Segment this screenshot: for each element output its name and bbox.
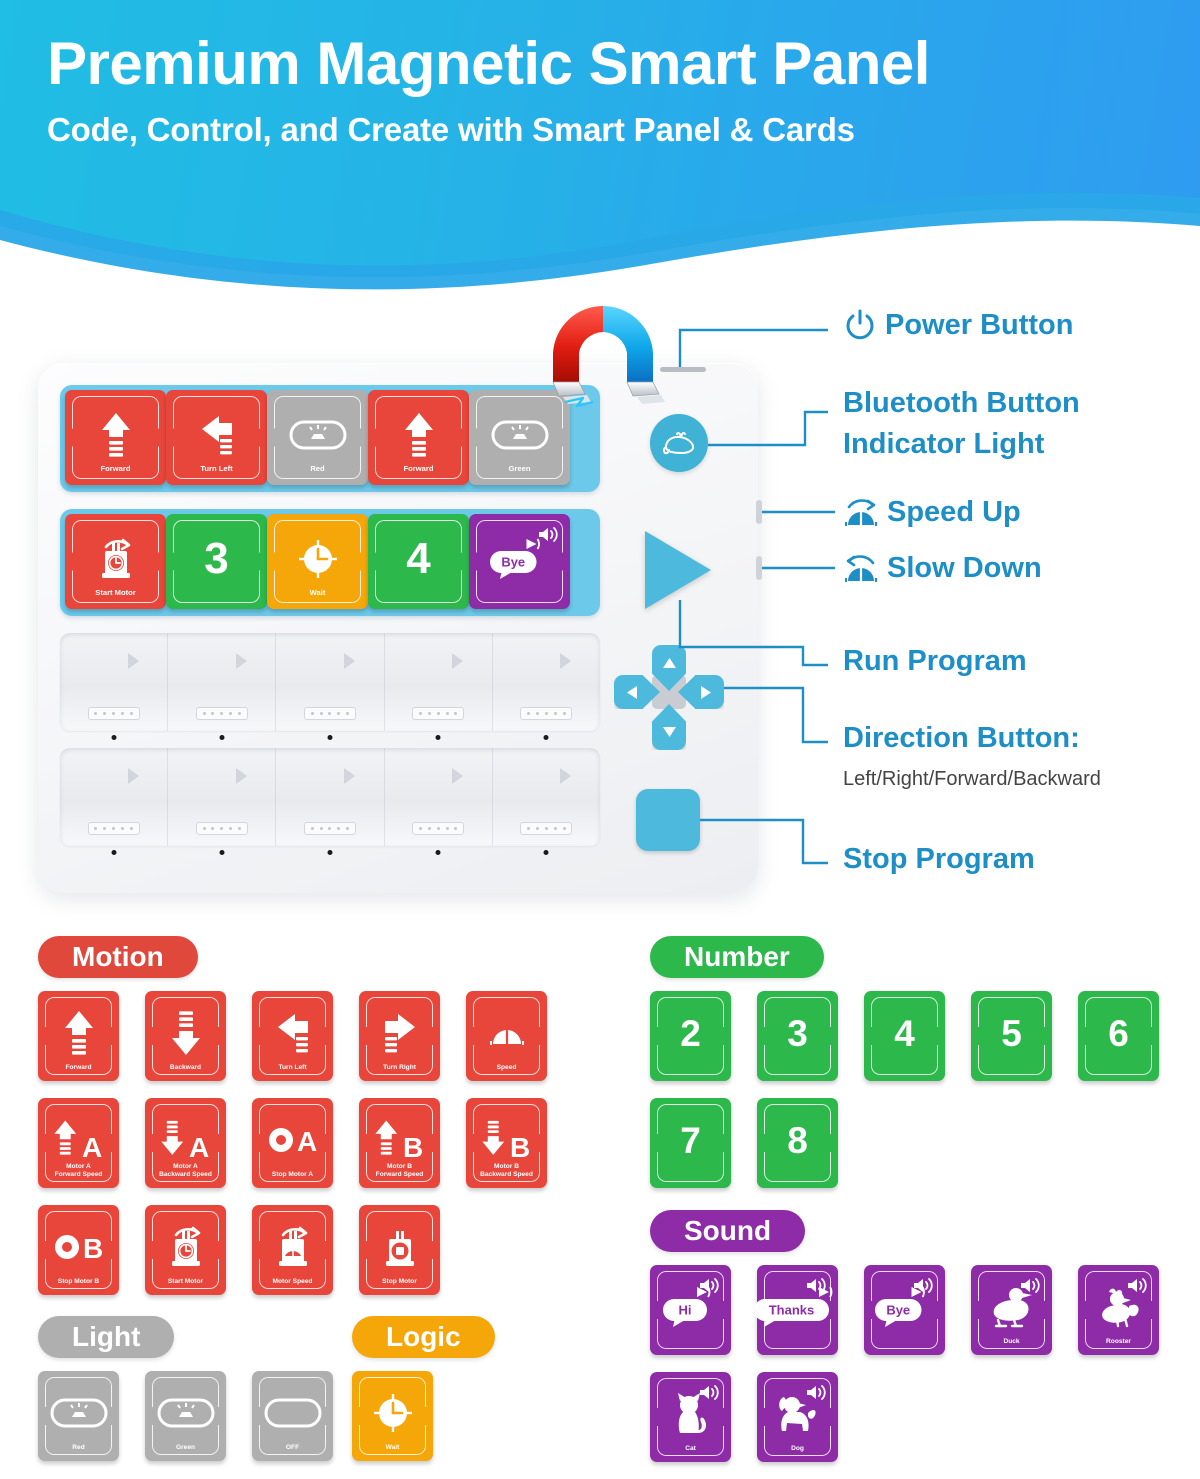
card-green[interactable]: Green [145,1371,226,1461]
arrow-up-stepped-icon [99,411,133,459]
svg-text:A: A [189,1132,209,1161]
card-icon: 7 [680,1122,701,1159]
power-icon [843,308,877,342]
callout-stop-label: Stop Program [843,843,1035,876]
card-icon [372,1392,414,1434]
speech-bubble-icon: Thanks [752,1285,843,1329]
callout-power-button: Power Button [843,308,1074,342]
card-red[interactable]: Red [38,1371,119,1461]
callout-direction-sublabel: Left/Right/Forward/Backward [843,768,1101,791]
card-label: Forward [65,465,166,474]
speaker-icon [699,1384,719,1401]
speaker-icon [1127,1277,1147,1294]
card-icon [169,1009,203,1057]
callout-direction-button: Direction Button: [843,722,1080,755]
card-label: Turn Right [359,1064,440,1072]
card-motor-a-backward-speed[interactable]: AMotor ABackward Speed [145,1098,226,1188]
callout-bluetooth-button: Bluetooth Button [843,387,1080,420]
card-cell: Stop Motor [359,1205,466,1312]
section-motion: Motion ForwardBackwardTurn LeftTurn Righ… [38,936,573,1312]
card-icon: 4 [406,537,430,581]
card-off[interactable]: OFF [252,1371,333,1461]
motor-gauge-icon [273,1225,313,1269]
card-icon [380,1225,420,1269]
section-pill-number: Number [650,936,824,978]
card-icon [157,1394,215,1432]
page-header: Premium Magnetic Smart Panel Code, Contr… [0,0,1200,300]
callout-bluetooth-label: Bluetooth Button [843,387,1080,420]
callout-run-label: Run Program [843,645,1027,678]
card-wait[interactable]: Wait [352,1371,433,1461]
card-cell: Motor Speed [252,1205,359,1312]
card-label: Red [38,1444,119,1452]
motor-stop-icon [380,1225,420,1269]
card-icon: 5 [1001,1015,1022,1052]
number-glyph: 7 [680,1122,701,1159]
card-cell: Forward [38,991,145,1098]
callout-slow-down: Slow Down [843,552,1042,585]
card-icon: B [52,1229,106,1265]
arrow-up-stepped-icon [402,411,436,459]
motor-clock-icon [96,537,136,581]
card-icon [491,416,549,454]
card-label: Wait [352,1444,433,1452]
card-thanks[interactable]: Thanks [757,1265,838,1355]
number-glyph: 2 [680,1015,701,1052]
svg-text:A: A [297,1126,317,1157]
gauge-up-icon [843,497,879,529]
section-pill-light: Light [38,1316,174,1358]
card-cell: Red [38,1371,145,1478]
card-cell: Start Motor [145,1205,252,1312]
card-speed[interactable]: Speed [466,991,547,1081]
stop-a-icon: A [266,1122,320,1158]
speaker-icon [1020,1277,1040,1294]
page-subtitle: Code, Control, and Create with Smart Pan… [47,111,1157,149]
card-label: Duck [971,1338,1052,1346]
card-label: Turn Left [252,1064,333,1072]
number-glyph: 3 [787,1015,808,1052]
page-title: Premium Magnetic Smart Panel [47,30,1157,97]
svg-text:Hi: Hi [678,1303,691,1318]
card-cell: AMotor AForward Speed [38,1098,145,1205]
number-glyph: 4 [406,537,430,581]
card-backward[interactable]: Backward [145,991,226,1081]
card-duck[interactable]: Duck [971,1265,1052,1355]
number-glyph: 6 [1108,1015,1129,1052]
speech-bubble-icon: Bye [488,537,551,581]
arrow-up-a-icon: A [52,1119,106,1161]
card-icon [96,537,136,581]
card-icon [166,1225,206,1269]
card-cell: AMotor ABackward Speed [145,1098,252,1205]
card-cell: Cat [650,1372,757,1479]
light-on-icon [491,416,549,454]
card-icon: Thanks [752,1285,843,1329]
arrow-up-b-icon: B [373,1119,427,1161]
card-icon [402,411,436,459]
card-label: Start Motor [65,589,166,598]
light-off-icon [264,1394,322,1432]
section-pill-sound: Sound [650,1210,805,1252]
card-cell: 2 [650,991,757,1098]
card-forward[interactable]: Forward [38,991,119,1081]
card-label: Rooster [1078,1338,1159,1346]
arrow-left-stepped-icon [276,1011,310,1055]
arrow-left-stepped-icon [200,413,234,457]
card-icon: Bye [488,537,551,581]
callout-direction-label: Direction Button: [843,722,1080,755]
card-label: Wait [267,589,368,598]
svg-text:Thanks: Thanks [769,1303,815,1318]
card-label: Start Motor [145,1278,226,1286]
card-icon: 3 [787,1015,808,1052]
card-icon: B [480,1119,534,1161]
card-icon [62,1009,96,1057]
card-cell: BMotor BForward Speed [359,1098,466,1205]
speaker-icon [806,1277,826,1294]
arrow-down-b-icon: B [480,1119,534,1161]
card-cell: AStop Motor A [252,1098,359,1205]
light-on-icon [157,1394,215,1432]
number-glyph: 3 [204,537,228,581]
card-cell: 7 [650,1098,757,1205]
card-5[interactable]: 5 [971,991,1052,1081]
card-icon [383,1011,417,1055]
sound-card-grid: HiThanksByeDuckRoosterCatDog [650,1265,1185,1479]
card-cell: 8 [757,1098,864,1205]
card-8[interactable]: 8 [757,1098,838,1188]
card-icon [99,411,133,459]
light-on-icon [289,416,347,454]
card-turn-left[interactable]: Turn Left [252,991,333,1081]
svg-text:B: B [403,1132,423,1161]
arrow-right-stepped-icon [383,1011,417,1055]
arrow-down-a-icon: A [159,1119,213,1161]
card-3[interactable]: 3 [757,991,838,1081]
card-turn-right[interactable]: Turn Right [359,991,440,1081]
card-icon: A [266,1122,320,1158]
card-label: Dog [757,1445,838,1453]
card-label: Speed [466,1064,547,1072]
gauge-down-icon [843,553,879,585]
callout-speed-up: Speed Up [843,496,1021,529]
section-sound: Sound HiThanksByeDuckRoosterCatDog [650,1210,1185,1479]
svg-text:Bye: Bye [502,554,526,569]
svg-text:A: A [82,1132,102,1161]
card-label: Green [469,465,570,474]
card-cell: Backward [145,991,252,1098]
card-label: Stop Motor A [252,1171,333,1179]
card-motor-a-forward-speed[interactable]: AMotor AForward Speed [38,1098,119,1188]
card-stop-motor-a[interactable]: AStop Motor A [252,1098,333,1188]
card-label: OFF [252,1444,333,1452]
clock-icon [372,1392,414,1434]
callout-stop-program: Stop Program [843,843,1035,876]
card-motor-speed[interactable]: Motor Speed [252,1205,333,1295]
gauge-icon [489,1018,525,1048]
card-label: Stop Motor [359,1278,440,1286]
card-label: Motor AForward Speed [38,1163,119,1179]
card-icon: B [373,1119,427,1161]
number-glyph: 5 [1001,1015,1022,1052]
card-cell: Speed [466,991,573,1098]
card-label: Green [145,1444,226,1452]
card-label: Backward [145,1064,226,1072]
svg-text:B: B [510,1132,530,1161]
speaker-icon [538,526,558,543]
card-cell: 6 [1078,991,1185,1098]
card-cell: BMotor BBackward Speed [466,1098,573,1205]
card-label: Stop Motor B [38,1278,119,1286]
horseshoe-magnet-icon [535,298,685,408]
card-cell: Turn Left [252,991,359,1098]
card-cell: Green [145,1371,252,1478]
card-cell: Hi [650,1265,757,1372]
header-wave-decoration [0,180,1200,300]
card-rooster[interactable]: Rooster [1078,1265,1159,1355]
callout-indicator-label: Indicator Light [843,428,1044,461]
arrow-up-stepped-icon [62,1009,96,1057]
card-icon [273,1225,313,1269]
logic-card-grid: Wait [352,1371,459,1478]
card-label: Motor ABackward Speed [145,1163,226,1179]
card-icon [200,413,234,457]
card-icon: 3 [204,537,228,581]
number-glyph: 4 [894,1015,915,1052]
card-icon: 4 [894,1015,915,1052]
card-label: Cat [650,1445,731,1453]
card-hi[interactable]: Hi [650,1265,731,1355]
card-label: Forward [368,465,469,474]
callout-run-program: Run Program [843,645,1027,678]
card-cat[interactable]: Cat [650,1372,731,1462]
card-stop-motor[interactable]: Stop Motor [359,1205,440,1295]
card-stop-motor-b[interactable]: BStop Motor B [38,1205,119,1295]
number-glyph: 8 [787,1122,808,1159]
callout-power-label: Power Button [885,309,1074,342]
card-icon: A [159,1119,213,1161]
clock-icon [297,538,339,580]
card-start-motor[interactable]: Start Motor [145,1205,226,1295]
card-motor-b-forward-speed[interactable]: BMotor BForward Speed [359,1098,440,1188]
card-icon [264,1394,322,1432]
light-on-icon [50,1394,108,1432]
motor-clock-icon [166,1225,206,1269]
card-2[interactable]: 2 [650,991,731,1081]
card-cell: Dog [757,1372,864,1479]
card-label: Turn Left [166,465,267,474]
section-pill-logic: Logic [352,1316,495,1358]
card-dog[interactable]: Dog [757,1372,838,1462]
card-label: Forward [38,1064,119,1072]
motion-card-grid: ForwardBackwardTurn LeftTurn RightSpeedA… [38,991,573,1312]
section-pill-motion: Motion [38,936,198,978]
card-7[interactable]: 7 [650,1098,731,1188]
number-card-grid: 2345678 [650,991,1185,1205]
card-cell: Bye [864,1265,971,1372]
speaker-icon [806,1384,826,1401]
card-label: Red [267,465,368,474]
card-icon: 6 [1108,1015,1129,1052]
card-icon: 8 [787,1122,808,1159]
section-logic: Logic Wait [352,1316,495,1478]
card-label: Motor BForward Speed [359,1163,440,1179]
stop-b-icon: B [52,1229,106,1265]
card-6[interactable]: 6 [1078,991,1159,1081]
card-motor-b-backward-speed[interactable]: BMotor BBackward Speed [466,1098,547,1188]
svg-text:B: B [83,1233,103,1264]
section-number: Number 2345678 [650,936,1185,1205]
callout-indicator-light: Indicator Light [843,428,1044,461]
arrow-down-stepped-icon [169,1009,203,1057]
card-cell: 4 [864,991,971,1098]
card-cell: Wait [352,1371,459,1478]
card-cell: 5 [971,991,1078,1098]
card-icon: A [52,1119,106,1161]
speaker-icon [913,1277,933,1294]
card-icon [50,1394,108,1432]
card-cell: Thanks [757,1265,864,1372]
card-cell: Turn Right [359,991,466,1098]
card-cell: BStop Motor B [38,1205,145,1312]
card-cell: Rooster [1078,1265,1185,1372]
card-icon [276,1011,310,1055]
card-icon: 2 [680,1015,701,1052]
card-icon [289,416,347,454]
card-4[interactable]: 4 [864,991,945,1081]
card-cell: OFF [252,1371,359,1478]
card-cell: 3 [757,991,864,1098]
callout-slow-down-label: Slow Down [887,552,1042,585]
svg-text:Bye: Bye [887,1303,911,1318]
card-icon [489,1018,525,1048]
card-bye[interactable]: Bye [864,1265,945,1355]
card-icon [297,538,339,580]
callout-speed-up-label: Speed Up [887,496,1021,529]
card-label: Motor BBackward Speed [466,1163,547,1179]
card-cell: Duck [971,1265,1078,1372]
speaker-icon [699,1277,719,1294]
card-label: Motor Speed [252,1278,333,1286]
